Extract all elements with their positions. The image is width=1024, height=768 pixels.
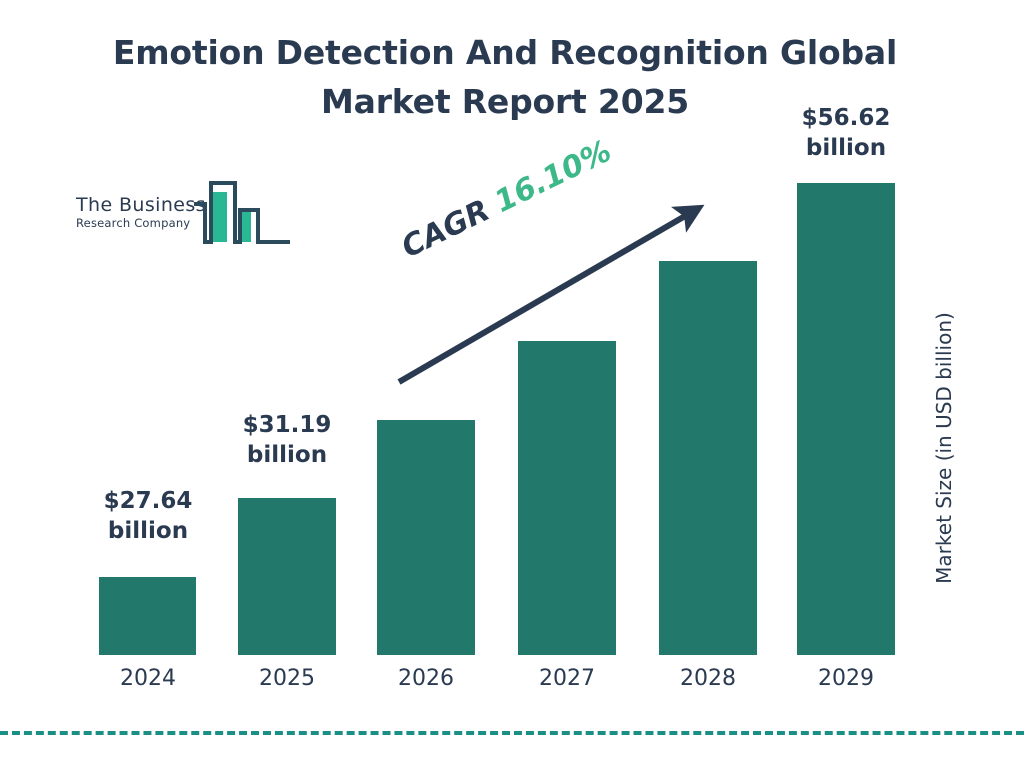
y-axis-title: Market Size (in USD billion) [932,258,956,638]
bar-value-label-2025: $31.19 billion [227,410,347,470]
cagr-label: CAGR [396,193,495,265]
x-tick-2024: 2024 [88,666,208,691]
plot-area: $27.64 billion $31.19 billion $56.62 bil… [0,0,1024,768]
footer-divider [0,731,1024,735]
x-tick-2028: 2028 [648,666,768,691]
bar-2028 [659,261,757,655]
x-tick-2026: 2026 [366,666,486,691]
cagr-annotation: CAGR 16.10% [396,134,617,266]
x-tick-2025: 2025 [227,666,347,691]
bar-2026 [377,420,475,655]
cagr-value: 16.10% [489,134,617,220]
bar-2024 [99,577,196,655]
bar-2027 [518,341,616,655]
bar-value-label-2024: $27.64 billion [88,486,208,546]
bar-value-label-2029: $56.62 billion [786,103,906,163]
bar-2025 [238,498,336,655]
chart-canvas: Emotion Detection And Recognition Global… [0,0,1024,768]
x-tick-2027: 2027 [507,666,627,691]
bar-2029 [797,183,895,655]
x-tick-2029: 2029 [786,666,906,691]
